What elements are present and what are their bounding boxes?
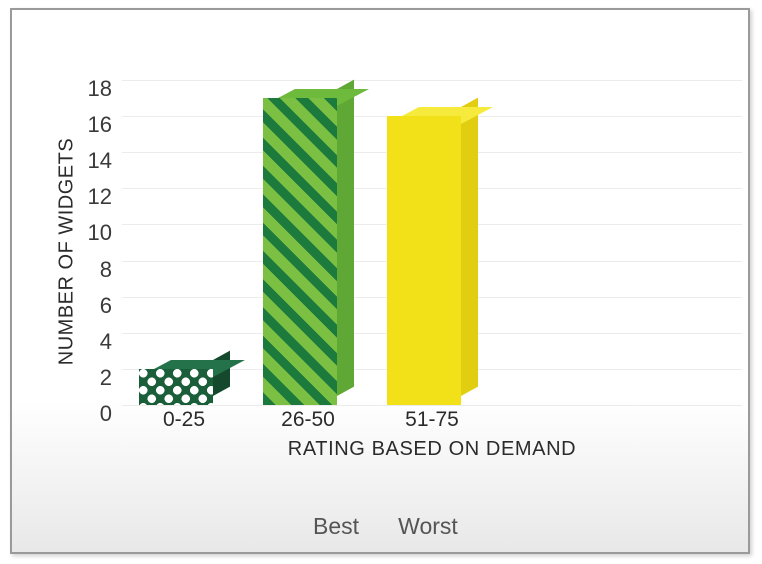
legend: Best Worst [32,497,732,555]
y-axis-tick-label: 4 [68,329,112,355]
y-axis-tick-labels: 024681012141618 [64,80,112,405]
gridline-perspective-tail [122,116,174,132]
gridline-perspective-tail [122,188,174,204]
x-axis-tick-label: 0-25 [124,408,244,432]
legend-worst-label: Worst [382,513,474,540]
bar-26-50[interactable] [263,98,337,405]
chart-frame: NUMBER OF WIDGETS 024681012141618 0-2526… [10,8,750,554]
y-axis-tick-label: 16 [68,112,112,138]
gridline-perspective-tail [122,261,174,277]
y-axis-tick-label: 18 [68,76,112,102]
gridline-perspective-tail [122,297,174,313]
y-axis-tick-label: 12 [68,184,112,210]
bar-front-face [263,98,337,405]
plot-area [122,80,742,405]
y-axis-tick-label: 14 [68,148,112,174]
gridline-perspective-tail [122,333,174,349]
y-axis-tick-label: 2 [68,365,112,391]
x-axis-tick-labels: 0-2526-5051-75 [122,408,742,440]
bar-front-face [139,369,213,405]
bar-front-face [387,116,461,405]
gridline-perspective-tail [122,152,174,168]
x-axis-tick-label: 51-75 [372,408,492,432]
bar-0-25[interactable] [139,369,213,405]
legend-best-label: Best [290,513,382,540]
x-axis-title: RATING BASED ON DEMAND [122,438,742,461]
gridline-perspective-tail [122,80,174,96]
y-axis-tick-label: 8 [68,257,112,283]
gridline-perspective-tail [122,224,174,240]
bar-side-face [337,80,354,396]
x-axis-tick-label: 26-50 [248,408,368,432]
gridline [122,405,742,406]
y-axis-tick-label: 6 [68,293,112,319]
gridline [122,80,742,81]
y-axis-tick-label: 0 [68,401,112,427]
y-axis-tick-label: 10 [68,220,112,246]
bar-51-75[interactable] [387,116,461,405]
bar-side-face [461,98,478,396]
